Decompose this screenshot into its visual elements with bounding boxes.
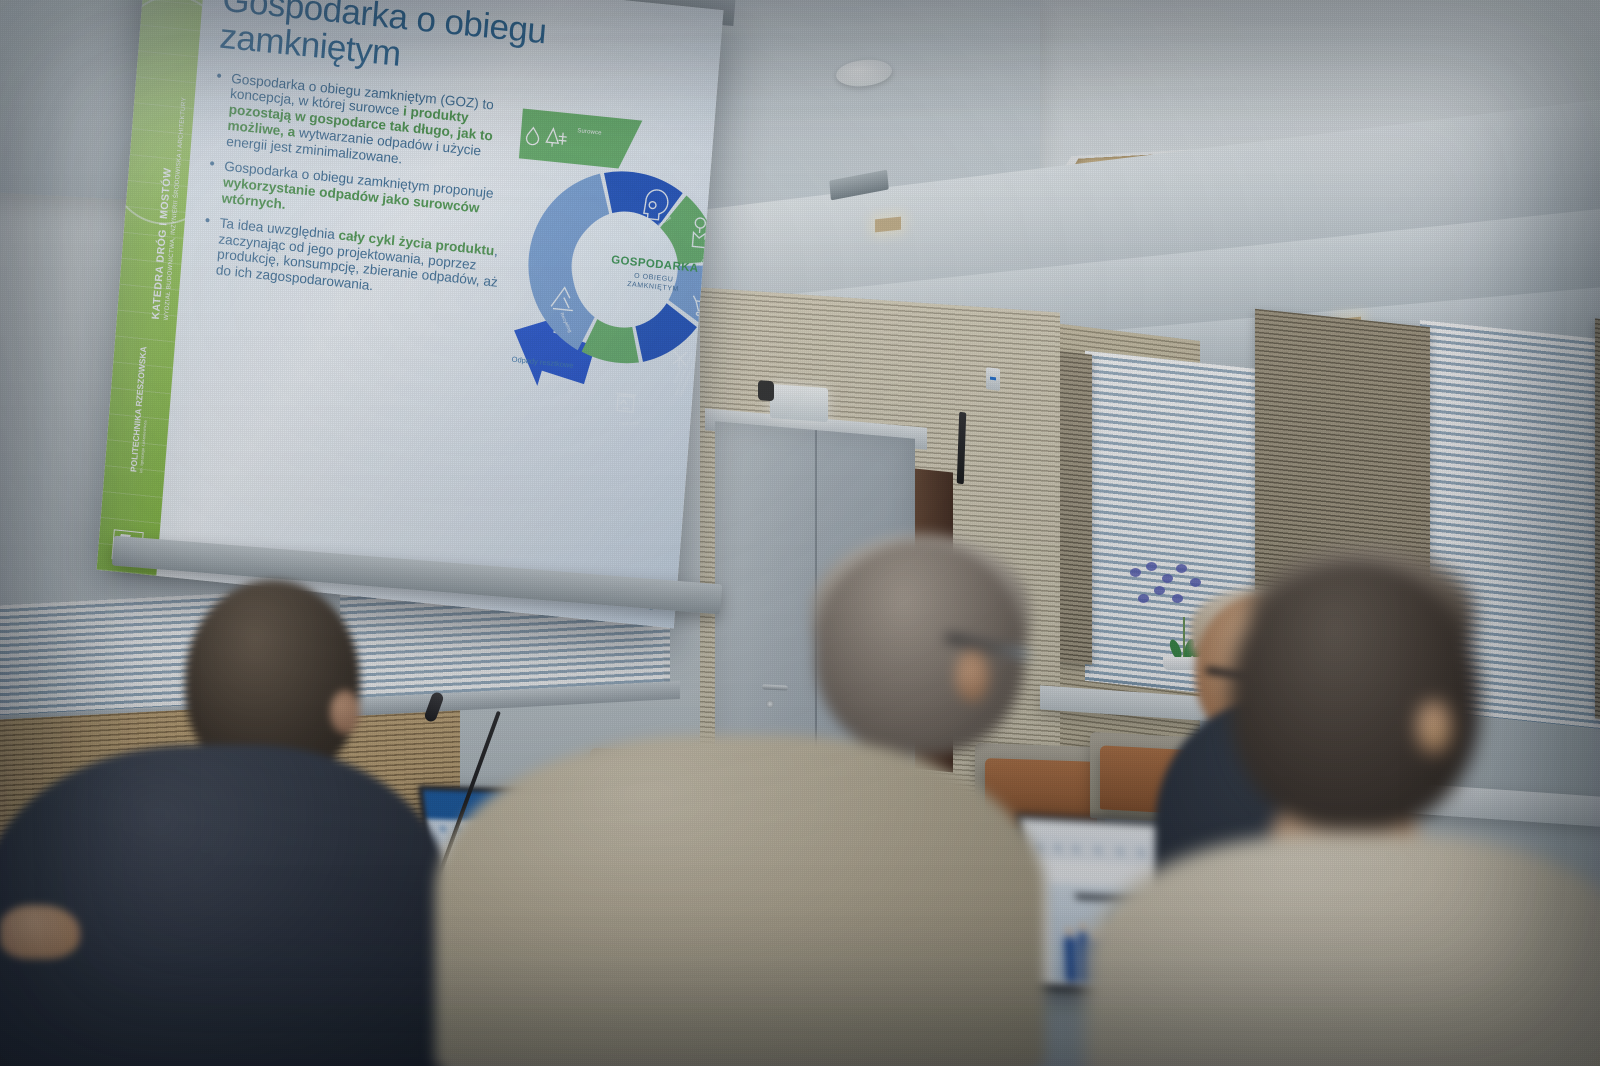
attendee-ear xyxy=(330,690,360,734)
slide-content: Gospodarka o obiegu zamkniętym Gospodark… xyxy=(156,0,723,628)
door-lock-icon xyxy=(766,700,774,708)
attendee-head xyxy=(1230,560,1480,830)
conference-room-scene: KATEDRA DRÓG I MOSTÓW WYDZIAŁ BUDOWNICTW… xyxy=(0,0,1600,1066)
window-shade[interactable] xyxy=(1595,318,1600,721)
motion-sensor-icon xyxy=(986,367,1000,391)
attendee-torso xyxy=(1085,835,1600,1066)
attendee-ear xyxy=(1416,700,1452,754)
rolled-projection-screen[interactable] xyxy=(770,384,828,422)
fork-knife-icon xyxy=(673,350,687,367)
attendee-hand xyxy=(0,905,80,959)
attendee-torso xyxy=(0,745,450,1066)
circular-economy-diagram: Surowce Projektowanie Produkcja, przetwa… xyxy=(495,96,699,443)
projection-screen: KATEDRA DRÓG I MOSTÓW WYDZIAŁ BUDOWNICTW… xyxy=(97,0,724,628)
diagram-input-shape xyxy=(519,108,642,170)
presentation-slide: KATEDRA DRÓG I MOSTÓW WYDZIAŁ BUDOWNICTW… xyxy=(97,0,724,628)
ceiling-spotlight xyxy=(875,217,901,233)
earring-icon xyxy=(1432,730,1441,739)
slide-bullet-list: Gospodarka o obiegu zamkniętym (GOZ) to … xyxy=(191,69,516,424)
attendee-ear xyxy=(955,650,989,702)
attendee-torso xyxy=(435,735,1045,1066)
